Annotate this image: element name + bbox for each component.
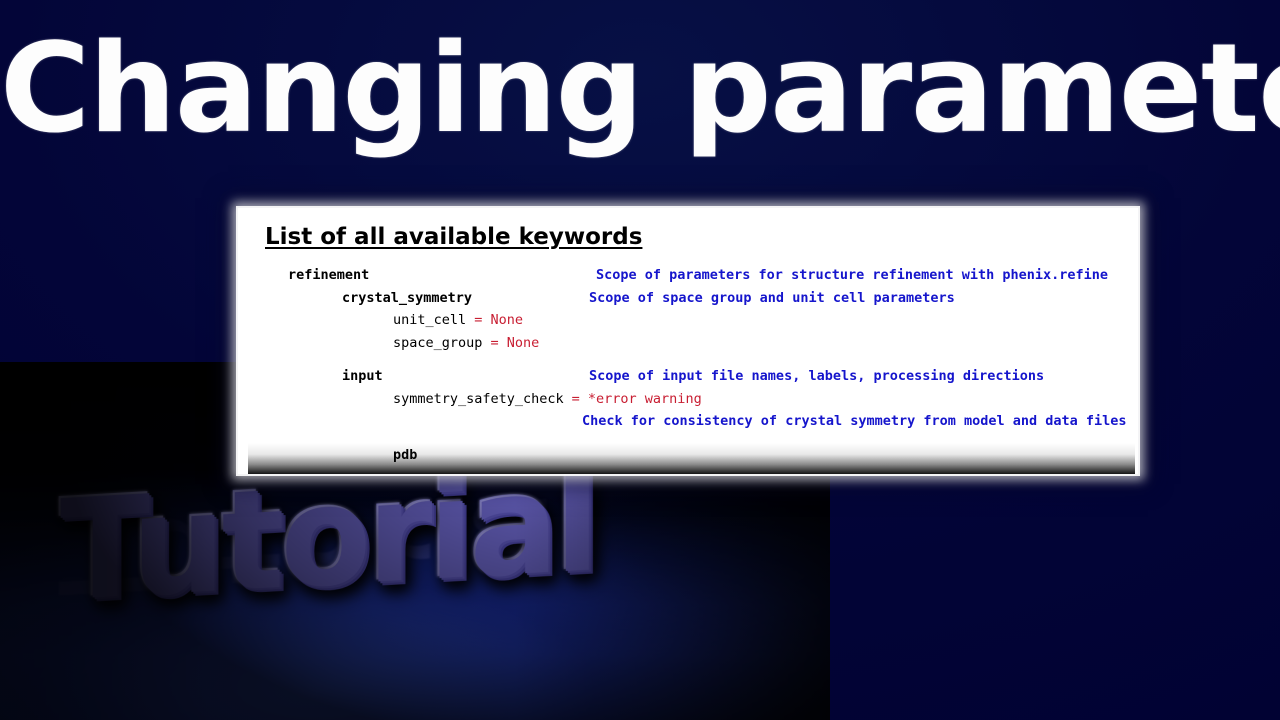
keyword-row: crystal_symmetryScope of space group and… bbox=[248, 287, 1135, 310]
keyword-description: Scope of parameters for structure refine… bbox=[596, 264, 1108, 287]
keyword-panel: List of all available keywords refinemen… bbox=[248, 212, 1135, 470]
keyword-row: Check for consistency of crystal symmetr… bbox=[248, 410, 1135, 433]
page-title: Changing parameters bbox=[0, 28, 1280, 151]
keyword-list: refinementScope of parameters for struct… bbox=[248, 264, 1135, 470]
keyword-panel-heading: List of all available keywords bbox=[265, 224, 642, 250]
keyword-name: refinement bbox=[288, 264, 369, 287]
keyword-name: unit_cell bbox=[393, 309, 466, 332]
keyword-name: input bbox=[342, 365, 383, 388]
keyword-name: file_name bbox=[445, 466, 518, 470]
keyword-row: space_group = None bbox=[248, 332, 1135, 355]
keyword-value: = None bbox=[518, 466, 575, 470]
keyword-description: Scope of input file names, labels, proce… bbox=[589, 365, 1044, 388]
keyword-row: symmetry_safety_check = *error warning bbox=[248, 388, 1135, 411]
keyword-row: unit_cell = None bbox=[248, 309, 1135, 332]
keyword-row: pdb bbox=[248, 444, 1135, 467]
keyword-row: inputScope of input file names, labels, … bbox=[248, 365, 1135, 388]
keyword-description: Model file(s) name (PDB) bbox=[576, 466, 771, 470]
keyword-value: = *error warning bbox=[564, 388, 702, 411]
keyword-name: crystal_symmetry bbox=[342, 287, 472, 310]
keyword-description: Scope of space group and unit cell param… bbox=[589, 287, 955, 310]
slide-root: Changing parameters Tutorial Tutorial Li… bbox=[0, 0, 1280, 720]
keyword-value: = None bbox=[466, 309, 523, 332]
keyword-name: pdb bbox=[393, 444, 417, 467]
keyword-value: = None bbox=[482, 332, 539, 355]
keyword-row-spacer bbox=[248, 433, 1135, 444]
keyword-name: space_group bbox=[393, 332, 482, 355]
keyword-row: file_name = NoneModel file(s) name (PDB) bbox=[248, 466, 1135, 470]
keyword-row: refinementScope of parameters for struct… bbox=[248, 264, 1135, 287]
keyword-row-spacer bbox=[248, 354, 1135, 365]
keyword-description: Check for consistency of crystal symmetr… bbox=[582, 410, 1127, 433]
keyword-name: symmetry_safety_check bbox=[393, 388, 564, 411]
